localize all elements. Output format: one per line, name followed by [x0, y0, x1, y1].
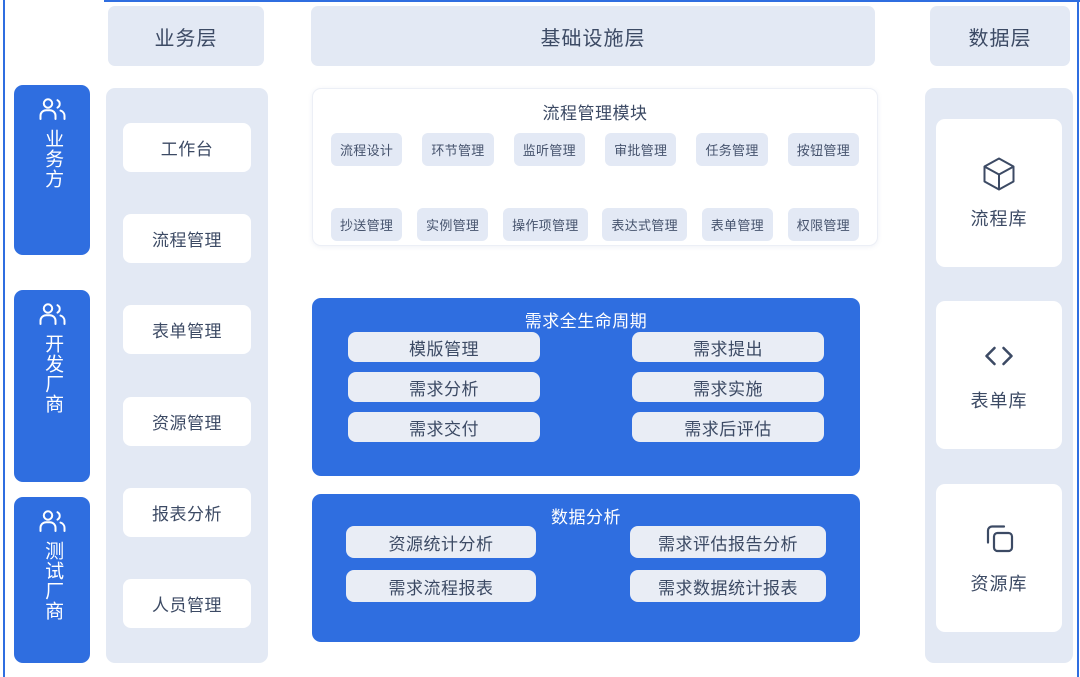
analytics-item-requirement-data-statistics-report[interactable]: 需求数据统计报表	[630, 570, 826, 602]
users-icon	[37, 97, 67, 123]
business-layer-list: 工作台 流程管理 表单管理 资源管理 报表分析 人员管理	[106, 88, 268, 663]
analytics-item-requirement-process-report[interactable]: 需求流程报表	[346, 570, 536, 602]
business-item-label: 表单管理	[152, 317, 222, 342]
business-item-form-management[interactable]: 表单管理	[123, 305, 251, 354]
lifecycle-item-requirement-analysis[interactable]: 需求分析	[348, 372, 540, 402]
business-item-resource-management[interactable]: 资源管理	[123, 397, 251, 446]
business-item-personnel-management[interactable]: 人员管理	[123, 579, 251, 628]
process-tag-expression-management[interactable]: 表达式管理	[602, 208, 687, 241]
process-tag-listener-management[interactable]: 监听管理	[514, 133, 585, 166]
frame-right-border	[1077, 0, 1079, 677]
header-infrastructure-layer-label: 基础设施层	[541, 22, 646, 51]
data-card-label: 资源库	[971, 570, 1028, 596]
process-tag-cc-management[interactable]: 抄送管理	[331, 208, 402, 241]
process-tag-instance-management[interactable]: 实例管理	[417, 208, 488, 241]
cube-icon	[980, 155, 1018, 193]
process-tag-permission-management[interactable]: 权限管理	[788, 208, 859, 241]
data-card-process-repository[interactable]: 流程库	[936, 119, 1062, 267]
process-tag-flow-design[interactable]: 流程设计	[331, 133, 402, 166]
requirement-lifecycle-title: 需求全生命周期	[312, 307, 860, 332]
analytics-row: 资源统计分析 需求评估报告分析	[346, 526, 826, 558]
role-card-business-side[interactable]: 业务方	[14, 85, 90, 255]
header-business-layer-label: 业务层	[155, 22, 218, 51]
data-card-form-repository[interactable]: 表单库	[936, 301, 1062, 449]
header-business-layer: 业务层	[108, 6, 264, 66]
lifecycle-item-template-management[interactable]: 模版管理	[348, 332, 540, 362]
data-card-label: 表单库	[971, 387, 1028, 413]
lifecycle-item-requirement-submission[interactable]: 需求提出	[632, 332, 824, 362]
requirement-lifecycle-grid: 模版管理 需求提出 需求分析 需求实施 需求交付 需求后评估	[312, 332, 860, 452]
lifecycle-item-requirement-delivery[interactable]: 需求交付	[348, 412, 540, 442]
process-module-tag-row: 抄送管理 实例管理 操作项管理 表达式管理 表单管理 权限管理	[331, 208, 859, 241]
business-item-label: 资源管理	[152, 409, 222, 434]
data-layer-list: 流程库 表单库 资源库	[925, 88, 1073, 663]
role-card-label: 业务方	[40, 129, 64, 189]
lifecycle-item-requirement-implementation[interactable]: 需求实施	[632, 372, 824, 402]
requirement-lifecycle-panel: 需求全生命周期 模版管理 需求提出 需求分析 需求实施 需求交付 需求后评估	[312, 298, 860, 476]
frame-top-border	[104, 0, 1080, 2]
process-tag-task-management[interactable]: 任务管理	[696, 133, 767, 166]
data-analysis-grid: 资源统计分析 需求评估报告分析 需求流程报表 需求数据统计报表	[312, 526, 860, 614]
process-management-module-card: 流程管理模块 流程设计 环节管理 监听管理 审批管理 任务管理 按钮管理 抄送管…	[312, 88, 878, 246]
copy-icon	[980, 520, 1018, 558]
analytics-item-resource-statistics[interactable]: 资源统计分析	[346, 526, 536, 558]
process-tag-node-management[interactable]: 环节管理	[422, 133, 493, 166]
architecture-diagram: 业务层 基础设施层 数据层 业务方 开发厂商	[0, 0, 1080, 677]
process-tag-form-management[interactable]: 表单管理	[702, 208, 773, 241]
analytics-row: 需求流程报表 需求数据统计报表	[346, 570, 826, 602]
users-icon	[37, 302, 67, 328]
frame-left-border	[3, 0, 5, 677]
header-infrastructure-layer: 基础设施层	[311, 6, 875, 66]
analytics-item-requirement-evaluation-report[interactable]: 需求评估报告分析	[630, 526, 826, 558]
data-analysis-title: 数据分析	[312, 503, 860, 528]
role-card-label: 测试厂商	[40, 541, 64, 621]
business-item-process-management[interactable]: 流程管理	[123, 214, 251, 263]
process-tag-approval-management[interactable]: 审批管理	[605, 133, 676, 166]
lifecycle-row: 需求分析 需求实施	[348, 372, 824, 402]
business-item-workbench[interactable]: 工作台	[123, 123, 251, 172]
role-card-dev-vendor[interactable]: 开发厂商	[14, 290, 90, 482]
business-item-label: 人员管理	[152, 591, 222, 616]
business-item-label: 工作台	[161, 135, 214, 160]
lifecycle-item-post-requirement-evaluation[interactable]: 需求后评估	[632, 412, 824, 442]
users-icon	[37, 509, 67, 535]
business-item-label: 流程管理	[152, 226, 222, 251]
data-card-label: 流程库	[971, 205, 1028, 231]
lifecycle-row: 需求交付 需求后评估	[348, 412, 824, 442]
code-brackets-icon	[980, 337, 1018, 375]
header-data-layer: 数据层	[930, 6, 1070, 66]
process-tag-button-management[interactable]: 按钮管理	[788, 133, 859, 166]
header-data-layer-label: 数据层	[969, 22, 1032, 51]
process-module-tag-row: 流程设计 环节管理 监听管理 审批管理 任务管理 按钮管理	[331, 133, 859, 166]
business-item-report-analysis[interactable]: 报表分析	[123, 488, 251, 537]
role-card-test-vendor[interactable]: 测试厂商	[14, 497, 90, 663]
data-analysis-panel: 数据分析 资源统计分析 需求评估报告分析 需求流程报表 需求数据统计报表	[312, 494, 860, 642]
lifecycle-row: 模版管理 需求提出	[348, 332, 824, 362]
data-card-resource-repository[interactable]: 资源库	[936, 484, 1062, 632]
role-card-label: 开发厂商	[40, 334, 64, 414]
process-tag-operation-item-management[interactable]: 操作项管理	[503, 208, 588, 241]
process-module-title: 流程管理模块	[313, 99, 877, 124]
business-item-label: 报表分析	[152, 500, 222, 525]
